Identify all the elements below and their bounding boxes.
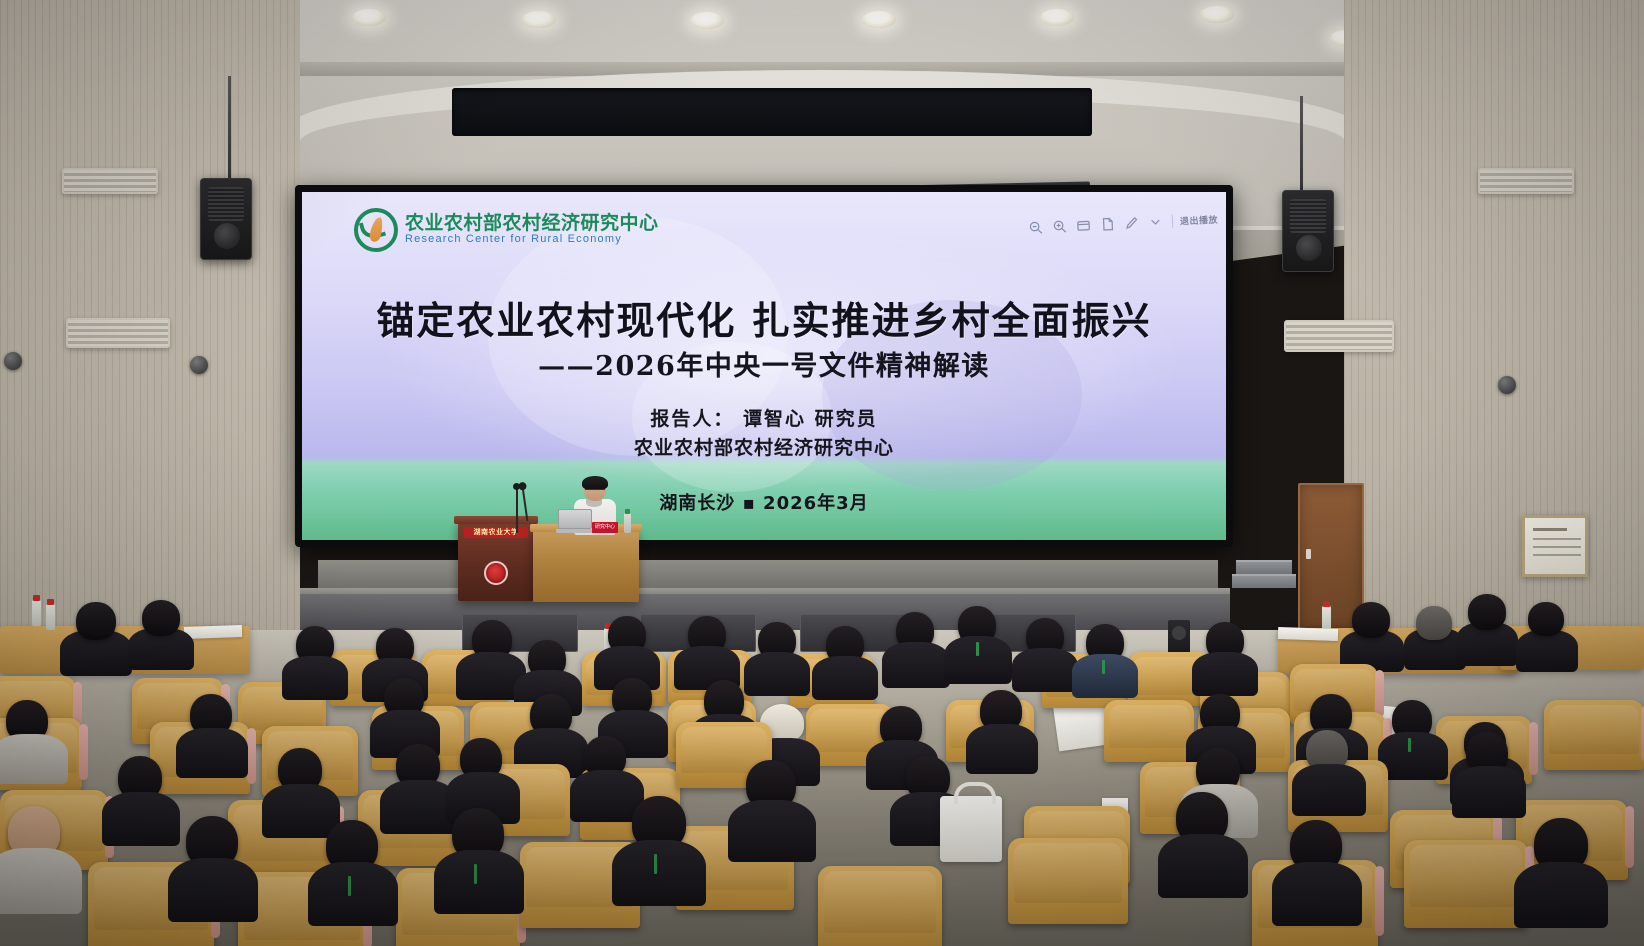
audience-shoulders: [728, 800, 816, 862]
air-vent: [1284, 320, 1394, 352]
audience-shoulders: [612, 840, 706, 906]
aisle-step: [1232, 574, 1296, 588]
audience-shoulders: [1378, 732, 1448, 780]
security-camera-icon: [190, 356, 208, 374]
audience-shoulders: [168, 858, 258, 922]
audience-head: [1416, 606, 1452, 640]
slide-presenter: 报告人： 谭智心 研究员: [302, 404, 1226, 431]
ceiling-light: [690, 12, 724, 29]
lectern-podium: 湖南农业大学: [458, 521, 534, 601]
audience-shoulders: [812, 656, 878, 700]
ceiling-light: [352, 9, 386, 26]
logo-english-name: Research Center for Rural Economy: [405, 234, 659, 246]
led-projection-screen: 农业农村部农村经济研究中心 Research Center for Rural …: [295, 185, 1233, 547]
ceiling-light: [862, 11, 896, 28]
auditorium-seat: [1104, 700, 1194, 762]
wall-speaker: [1282, 190, 1334, 272]
presenter-laptop: [556, 509, 594, 533]
logo-chinese-name: 农业农村部农村经济研究中心: [405, 214, 659, 234]
zoom-out-icon[interactable]: [1028, 220, 1044, 236]
ceiling-light: [1200, 6, 1234, 23]
audience-shoulders: [1012, 648, 1078, 692]
ceiling-light: [522, 11, 556, 28]
audience-shoulders: [434, 850, 524, 914]
auditorium-seat: [1404, 840, 1528, 928]
lanyard: [1102, 660, 1105, 674]
slide-organization: 农业农村部农村经济研究中心: [302, 433, 1226, 460]
slide-main-title: 锚定农业农村现代化 扎实推进乡村全面振兴: [302, 290, 1226, 345]
presentation-slide: 农业农村部农村经济研究中心 Research Center for Rural …: [302, 192, 1226, 540]
air-vent: [1478, 168, 1574, 194]
presenter-glasses: [585, 489, 605, 493]
notice-board: [1522, 515, 1588, 577]
lanyard: [348, 876, 351, 896]
audience-head: [1468, 594, 1506, 630]
desk-name-sign: 研究中心: [592, 522, 618, 533]
document-paper: [184, 625, 242, 639]
aisle-step: [1236, 560, 1292, 574]
security-camera-icon: [1498, 376, 1516, 394]
water-bottle: [46, 604, 55, 630]
speaker-mount-rod: [228, 76, 231, 182]
audience-shoulders: [308, 862, 398, 926]
air-vent: [62, 168, 158, 194]
presenter-hair: [582, 476, 608, 490]
podium-name-plate: 湖南农业大学: [464, 527, 528, 538]
audience-shoulders: [0, 848, 82, 914]
rural-economy-logo-icon: [354, 208, 398, 252]
university-emblem-icon: [484, 561, 508, 585]
water-bottle: [624, 513, 631, 533]
audience-shoulders: [1514, 862, 1608, 928]
speaker-table: [533, 530, 639, 602]
auditorium-seat: [1008, 838, 1128, 924]
audience-head: [76, 602, 116, 640]
audience-shoulders: [1292, 764, 1366, 816]
document-paper: [1053, 701, 1111, 752]
audience-shoulders: [1272, 862, 1362, 926]
tote-bag: [940, 796, 1002, 862]
audience-shoulders: [176, 728, 248, 778]
auditorium-seat: [818, 866, 942, 946]
auditorium-seat: [1544, 700, 1644, 770]
slide-subtitle: ——2026年中央一号文件精神解读: [302, 344, 1226, 383]
chevron-down-icon[interactable]: [1148, 214, 1164, 230]
ceiling-recess-panel: [452, 88, 1092, 136]
audience-shoulders: [1192, 652, 1258, 696]
audience-shoulders: [1158, 834, 1248, 898]
audience-shoulders: [1452, 766, 1526, 818]
lecture-hall-scene: 农业农村部农村经济研究中心 Research Center for Rural …: [0, 0, 1644, 946]
zoom-in-icon[interactable]: [1052, 219, 1068, 235]
table-microphone: [516, 487, 518, 533]
audience-shoulders: [966, 724, 1038, 774]
lanyard: [1408, 738, 1411, 752]
audience-head: [142, 600, 180, 636]
document-paper: [1278, 627, 1338, 641]
pen-annotation-icon[interactable]: [1124, 215, 1140, 231]
ppt-playback-toolbar[interactable]: 退出播放: [1028, 212, 1219, 236]
air-vent: [66, 318, 170, 348]
audience-head: [1528, 602, 1564, 636]
audience-shoulders: [282, 656, 348, 700]
audience-shoulders: [102, 792, 180, 846]
lanyard: [654, 854, 657, 874]
audience-shoulders: [1516, 630, 1578, 672]
speaker-mount-rod: [1300, 96, 1303, 192]
wall-speaker: [200, 178, 252, 260]
audience-shoulders: [0, 734, 68, 784]
audience-shoulders: [262, 784, 340, 838]
lanyard: [976, 642, 979, 656]
audience-shoulders: [882, 642, 950, 688]
security-camera-icon: [4, 352, 22, 370]
slide-logo: 农业农村部农村经济研究中心 Research Center for Rural …: [354, 208, 659, 252]
slide-venue-date: 湖南长沙 ▪ 2026年3月: [302, 489, 1226, 515]
audience-shoulders: [1072, 654, 1138, 698]
ceiling-light: [1040, 9, 1074, 26]
presenter-view-icon[interactable]: [1076, 217, 1092, 233]
audience-shoulders: [744, 652, 810, 696]
exit-presentation-button[interactable]: 退出播放: [1172, 213, 1219, 228]
lanyard: [474, 864, 477, 884]
slide-notes-icon[interactable]: [1100, 216, 1116, 232]
audience-head: [1352, 602, 1390, 638]
water-bottle: [32, 600, 41, 626]
